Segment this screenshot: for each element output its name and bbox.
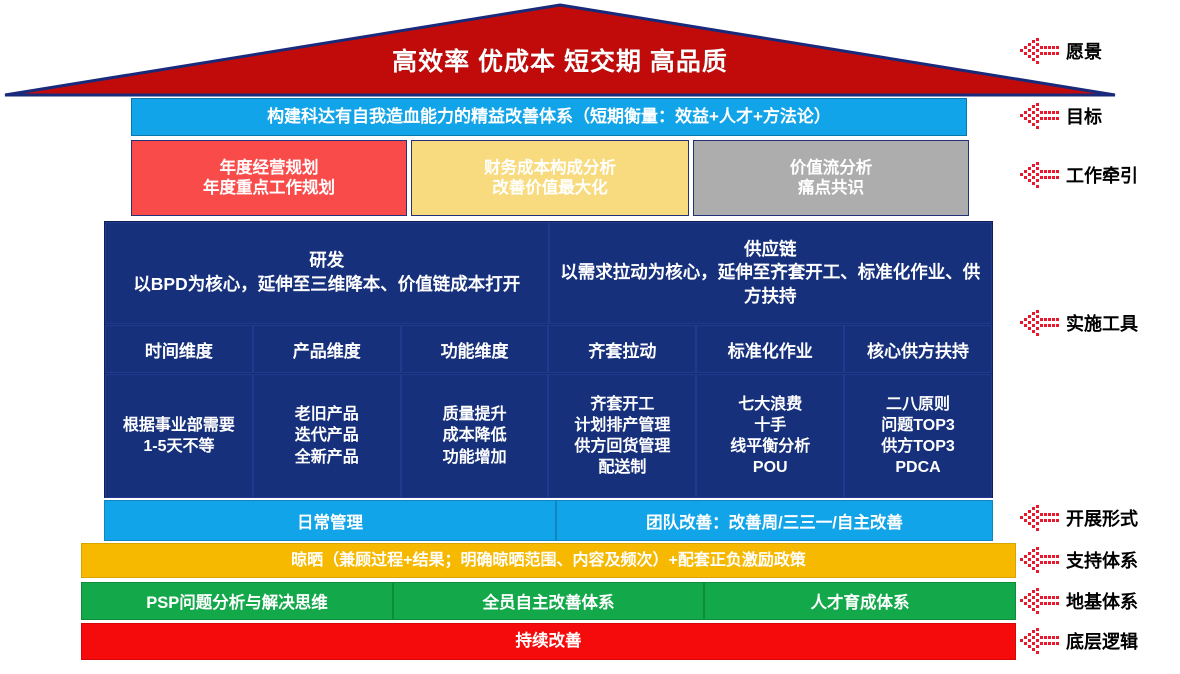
- dimension-core-supplier-support: 核心供方扶持: [844, 325, 992, 373]
- dimension-kit-pull: 齐套拉动: [548, 325, 696, 373]
- implementation-header-supply-chain: 供应链 以需求拉动为核心，延伸至齐套开工、标准化作业、供方扶持: [549, 222, 993, 324]
- dotted-left-arrow-icon: [1020, 588, 1062, 614]
- dimension-function: 功能维度: [401, 325, 549, 373]
- forms-team-improvement: 团队改善：改善周/三三一/自主改善: [556, 500, 993, 541]
- dotted-left-arrow-icon: [1020, 547, 1062, 573]
- legend-item-implementation-tools: 实施工具: [1020, 310, 1138, 336]
- goal-bar-text: 构建科达有自我造血能力的精益改善体系（短期衡量：效益+人才+方法论）: [132, 99, 966, 135]
- traction-card-value-stream: 价值流分析 痛点共识: [693, 140, 969, 216]
- traction-card-cost-analysis: 财务成本构成分析 改善价值最大化: [411, 140, 689, 216]
- foundation-system-row: PSP问题分析与解决思维 全员自主改善体系 人才育成体系: [81, 582, 1016, 620]
- lean-improvement-house-diagram: 高效率 优成本 短交期 高品质 构建科达有自我造血能力的精益改善体系（短期衡量：…: [0, 0, 1180, 674]
- dotted-left-arrow-icon: [1020, 310, 1062, 336]
- support-system-bar: 晾晒（兼顾过程+结果；明确晾晒范围、内容及频次）+配套正负激励政策: [81, 543, 1016, 578]
- legend-label-execution-forms: 开展形式: [1066, 505, 1138, 531]
- traction-card-annual-plan: 年度经营规划 年度重点工作规划: [131, 140, 407, 216]
- item-core-supplier-detail: 二八原则 问题TOP3 供方TOP3 PDCA: [844, 374, 992, 498]
- bottom-logic-bar: 持续改善: [81, 623, 1016, 660]
- dotted-left-arrow-icon: [1020, 162, 1062, 188]
- item-product-detail: 老旧产品 迭代产品 全新产品: [253, 374, 401, 498]
- roof-vision-shape: 高效率 优成本 短交期 高品质: [0, 0, 1120, 100]
- item-time-detail: 根据事业部需要 1-5天不等: [105, 374, 253, 498]
- goal-bar: 构建科达有自我造血能力的精益改善体系（短期衡量：效益+人才+方法论）: [131, 98, 967, 136]
- implementation-tools-block: 研发 以BPD为核心，延伸至三维降本、价值链成本打开 供应链 以需求拉动为核心，…: [104, 221, 993, 498]
- implementation-headers-row: 研发 以BPD为核心，延伸至三维降本、价值链成本打开 供应链 以需求拉动为核心，…: [105, 222, 992, 324]
- legend-item-goal: 目标: [1020, 103, 1102, 129]
- forms-daily-management: 日常管理: [104, 500, 556, 541]
- implementation-items-row: 根据事业部需要 1-5天不等 老旧产品 迭代产品 全新产品 质量提升 成本降低 …: [105, 374, 992, 498]
- dotted-left-arrow-icon: [1020, 505, 1062, 531]
- legend-item-foundation-system: 地基体系: [1020, 588, 1138, 614]
- foundation-talent-development: 人才育成体系: [704, 582, 1016, 620]
- implementation-header-rd: 研发 以BPD为核心，延伸至三维降本、价值链成本打开: [105, 222, 549, 324]
- item-kit-pull-detail: 齐套开工 计划排产管理 供方回货管理 配送制: [548, 374, 696, 498]
- legend-item-execution-forms: 开展形式: [1020, 505, 1138, 531]
- bottom-logic-text: 持续改善: [82, 624, 1015, 659]
- dotted-left-arrow-icon: [1020, 38, 1062, 64]
- dotted-left-arrow-icon: [1020, 628, 1062, 654]
- work-traction-row: 年度经营规划 年度重点工作规划 财务成本构成分析 改善价值最大化 价值流分析 痛…: [131, 140, 969, 216]
- legend-label-foundation-system: 地基体系: [1066, 588, 1138, 614]
- item-standard-work-detail: 七大浪费 十手 线平衡分析 POU: [696, 374, 844, 498]
- dotted-left-arrow-icon: [1020, 103, 1062, 129]
- legend-label-work-traction: 工作牵引: [1066, 162, 1138, 188]
- legend-label-implementation-tools: 实施工具: [1066, 310, 1138, 336]
- implementation-dimensions-row: 时间维度 产品维度 功能维度 齐套拉动 标准化作业 核心供方扶持: [105, 325, 992, 373]
- dimension-standard-work: 标准化作业: [696, 325, 844, 373]
- dimension-time: 时间维度: [105, 325, 253, 373]
- dimension-product: 产品维度: [253, 325, 401, 373]
- item-function-detail: 质量提升 成本降低 功能增加: [401, 374, 549, 498]
- legend-label-support-system: 支持体系: [1066, 547, 1138, 573]
- legend-item-support-system: 支持体系: [1020, 547, 1138, 573]
- execution-forms-row: 日常管理 团队改善：改善周/三三一/自主改善: [104, 500, 993, 541]
- foundation-psp-thinking: PSP问题分析与解决思维: [81, 582, 393, 620]
- legend-item-bottom-logic: 底层逻辑: [1020, 628, 1138, 654]
- legend-label-goal: 目标: [1066, 103, 1102, 129]
- legend-label-bottom-logic: 底层逻辑: [1066, 628, 1138, 654]
- legend-label-vision: 愿景: [1066, 38, 1102, 64]
- support-system-text: 晾晒（兼顾过程+结果；明确晾晒范围、内容及频次）+配套正负激励政策: [82, 544, 1015, 577]
- legend-item-work-traction: 工作牵引: [1020, 162, 1138, 188]
- legend-item-vision: 愿景: [1020, 38, 1102, 64]
- foundation-all-employee-improvement: 全员自主改善体系: [393, 582, 704, 620]
